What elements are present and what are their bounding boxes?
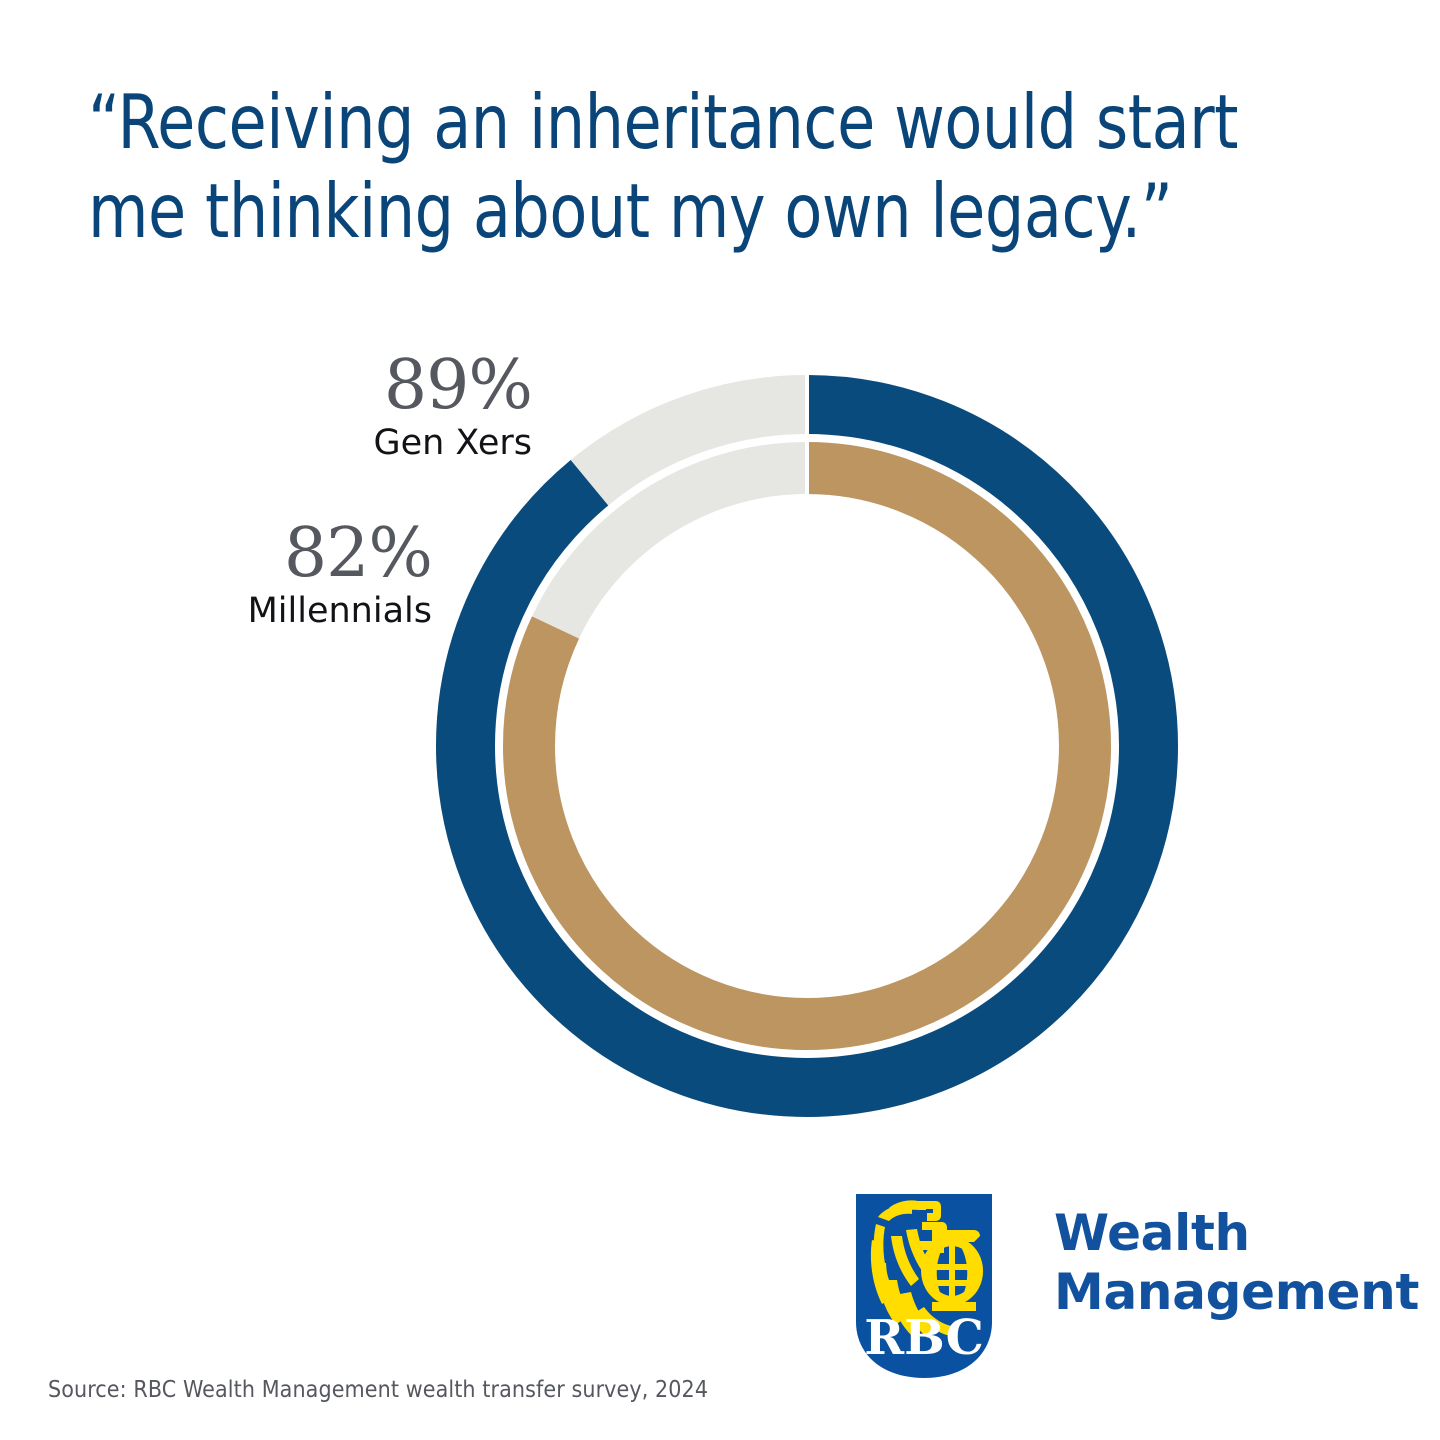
page-title: “Receiving an inheritance would start me… <box>88 78 1378 255</box>
callout-gen-xers-label: Gen Xers <box>180 426 532 461</box>
rbc-wealth-management-logo: RBC Wealth Management <box>856 1194 1419 1378</box>
callout-millennials-percent: 82% <box>120 520 432 588</box>
outer-ring-seam <box>805 374 809 436</box>
callout-millennials-label: Millennials <box>120 594 432 629</box>
outer-ring-value-genx <box>466 405 1148 1087</box>
inner-ring-seam <box>805 441 809 495</box>
ring-separator <box>499 438 1115 1054</box>
callout-gen-xers-percent: 89% <box>180 352 532 420</box>
quote-headline: “Receiving an inheritance would start me… <box>88 78 1275 255</box>
source-note: Source: RBC Wealth Management wealth tra… <box>48 1377 708 1403</box>
callout-gen-xers: 89% Gen Xers <box>180 352 532 461</box>
callout-millennials: 82% Millennials <box>120 520 432 629</box>
rbc-shield-icon: RBC <box>856 1194 992 1378</box>
rbc-wordmark: RBC <box>864 1310 984 1366</box>
donut-chart-svg <box>435 374 1179 1118</box>
donut-chart <box>435 374 1179 1118</box>
brand-name-wealth-management: Wealth Management <box>1054 1204 1419 1322</box>
